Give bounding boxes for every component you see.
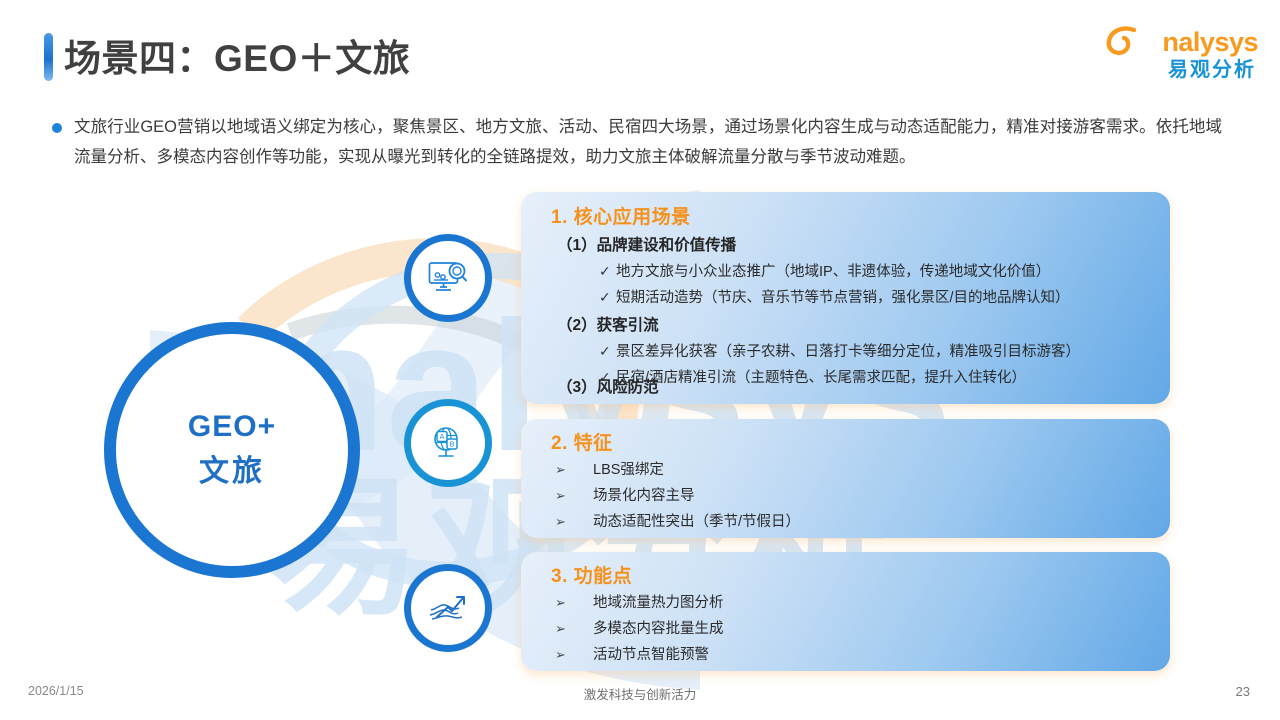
card1-title: 1. 核心应用场景 bbox=[551, 202, 691, 229]
brand-logo: nalysys 易观分析 bbox=[1098, 26, 1258, 90]
intro-paragraph: 文旅行业GEO营销以地域语义绑定为核心，聚焦景区、地方文旅、活动、民宿四大场景，… bbox=[74, 112, 1222, 172]
card-core-scenarios: 1. 核心应用场景 （1）品牌建设和价值传播 ✓地方文旅与小众业态推广（地域IP… bbox=[521, 192, 1170, 404]
node-circle-monitor-search[interactable] bbox=[404, 234, 492, 322]
arrow-icon: ➢ bbox=[555, 462, 593, 478]
logo-text-cn: 易观分析 bbox=[1168, 58, 1256, 82]
card1-group1-item1-text: 地方文旅与小众业态推广（地域IP、非遗体验，传递地域文化价值） bbox=[616, 264, 1050, 280]
card2-bullet-3-text: 动态适配性突出（季节/节假日） bbox=[593, 514, 800, 530]
card-characteristics: 2. 特征 ➢LBS强绑定 ➢场景化内容主导 ➢动态适配性突出（季节/节假日） bbox=[521, 419, 1170, 538]
card1-group3-number: （3） bbox=[557, 375, 597, 397]
logo-text-en: nalysys bbox=[1162, 26, 1258, 58]
center-node-circle: GEO+ 文旅 bbox=[104, 322, 360, 578]
page-title: 场景四：GEO＋文旅 bbox=[64, 28, 410, 82]
arrow-icon: ➢ bbox=[555, 514, 593, 530]
center-node-label-line1: GEO+ bbox=[188, 405, 276, 449]
card3-title: 3. 功能点 bbox=[551, 561, 632, 588]
card1-group1-item2-text: 短期活动造势（节庆、音乐节等节点营销，强化景区/目的地品牌认知） bbox=[616, 290, 1070, 306]
center-node-label-line2: 文旅 bbox=[199, 449, 265, 495]
arrow-icon: ➢ bbox=[555, 621, 593, 637]
svg-text:B: B bbox=[449, 440, 454, 449]
card3-bullet-1: ➢地域流量热力图分析 bbox=[555, 591, 724, 612]
title-accent-bar bbox=[44, 33, 53, 81]
logo-swirl-icon bbox=[1104, 24, 1138, 58]
card2-bullet-3: ➢动态适配性突出（季节/节假日） bbox=[555, 510, 800, 531]
card1-group2-item1-text: 景区差异化获客（亲子农耕、日落打卡等细分定位，精准吸引目标游客） bbox=[616, 344, 1080, 360]
card1-group2-item2: ✓民宿/酒店精准引流（主题特色、长尾需求匹配，提升入住转化） bbox=[599, 366, 1026, 387]
svg-text:A: A bbox=[439, 432, 444, 441]
card-features: 3. 功能点 ➢地域流量热力图分析 ➢多模态内容批量生成 ➢活动节点智能预警 bbox=[521, 552, 1170, 671]
intro-bullet-dot bbox=[52, 123, 62, 133]
card1-group3-label: 风险防范 bbox=[597, 379, 659, 396]
card1-group1-label: 品牌建设和价值传播 bbox=[597, 237, 737, 254]
card1-group1-item2: ✓短期活动造势（节庆、音乐节等节点营销，强化景区/目的地品牌认知） bbox=[599, 286, 1070, 307]
check-icon: ✓ bbox=[599, 289, 616, 306]
card2-bullet-1-text: LBS强绑定 bbox=[593, 462, 664, 478]
card1-group2-item2-text: 民宿/酒店精准引流（主题特色、长尾需求匹配，提升入住转化） bbox=[616, 370, 1026, 386]
arrow-icon: ➢ bbox=[555, 647, 593, 663]
card3-bullet-2: ➢多模态内容批量生成 bbox=[555, 617, 724, 638]
card1-group1-number: （1） bbox=[557, 233, 597, 255]
card2-bullet-1: ➢LBS强绑定 bbox=[555, 458, 664, 479]
arrow-icon: ➢ bbox=[555, 488, 593, 504]
check-icon: ✓ bbox=[599, 343, 616, 360]
card1-group2-label: 获客引流 bbox=[597, 317, 659, 334]
slide-root: analysys 易观分析 场景四：GEO＋文旅 nalysys 易观分析 文旅… bbox=[0, 0, 1280, 720]
card1-group1-heading: （1）品牌建设和价值传播 bbox=[557, 233, 736, 255]
card1-group2-number: （2） bbox=[557, 313, 597, 335]
globe-translate-icon: A B bbox=[429, 426, 467, 460]
arrow-icon: ➢ bbox=[555, 595, 593, 611]
node-circle-globe-translate[interactable]: A B bbox=[404, 399, 492, 487]
footer-page-number: 23 bbox=[1236, 684, 1250, 699]
card1-group2-heading: （2）获客引流 bbox=[557, 313, 659, 335]
footer-slogan: 激发科技与创新活力 bbox=[0, 684, 1280, 703]
card3-bullet-3-text: 活动节点智能预警 bbox=[593, 647, 709, 663]
card2-bullet-2: ➢场景化内容主导 bbox=[555, 484, 695, 505]
card1-group2-item1: ✓景区差异化获客（亲子农耕、日落打卡等细分定位，精准吸引目标游客） bbox=[599, 340, 1080, 361]
node-circle-line-chart[interactable] bbox=[404, 564, 492, 652]
card2-title: 2. 特征 bbox=[551, 428, 613, 455]
card1-group3-heading: （3）风险防范 bbox=[557, 375, 659, 397]
card3-bullet-2-text: 多模态内容批量生成 bbox=[593, 621, 724, 637]
card1-group1-item1: ✓地方文旅与小众业态推广（地域IP、非遗体验，传递地域文化价值） bbox=[599, 260, 1050, 281]
monitor-search-icon bbox=[428, 261, 468, 295]
card3-bullet-1-text: 地域流量热力图分析 bbox=[593, 595, 724, 611]
line-chart-arrow-icon bbox=[428, 593, 468, 623]
card2-bullet-2-text: 场景化内容主导 bbox=[593, 488, 695, 504]
card3-bullet-3: ➢活动节点智能预警 bbox=[555, 643, 709, 664]
check-icon: ✓ bbox=[599, 263, 616, 280]
